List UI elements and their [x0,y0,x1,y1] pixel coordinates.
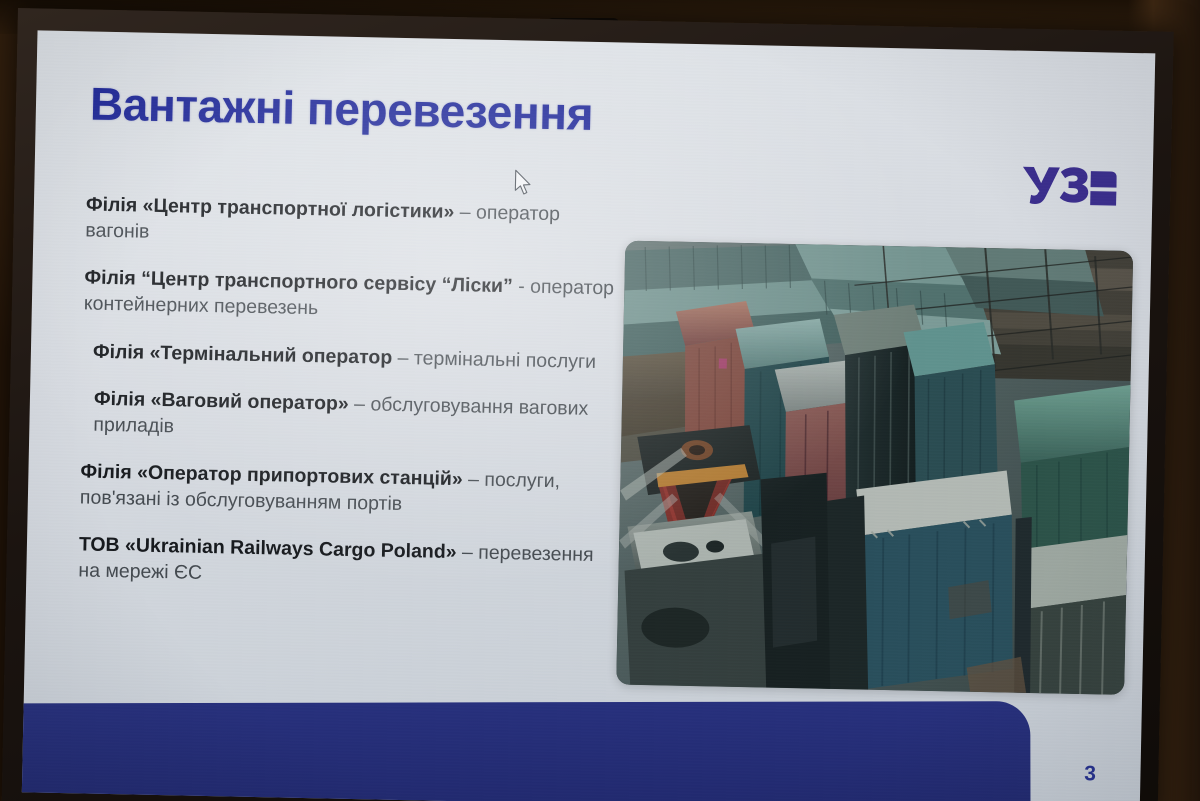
list-item: Філія «Термінальний оператор – терміналь… [83,338,623,375]
list-item: Філія «Ваговий оператор» – обслуговуванн… [81,385,622,448]
list-item: Філія “Центр транспортного сервісу “Ліск… [84,265,625,328]
mouse-cursor-icon [513,169,534,197]
list-item: ТОВ «Ukrainian Railways Cargo Poland» – … [78,531,619,594]
presentation-photo-scene: Вантажні перевезення [0,0,1200,801]
bullet-rest: – термінальні послуги [397,346,596,372]
list-item: Філія «Центр транспортної логістики» – о… [85,191,626,254]
uz-logo-icon [1020,163,1117,215]
presentation-slide: Вантажні перевезення [22,30,1155,801]
list-item: Філія «Оператор припортових станцій» – п… [80,458,621,521]
railway-yard-photo [616,241,1133,695]
bullet-lead: Філія «Оператор припортових станцій» [80,460,468,490]
bullet-lead: Філія «Ваговий оператор» [94,387,355,414]
footer-accent-band [22,701,1031,801]
bullet-list: Філія «Центр транспортної логістики» – о… [78,191,626,615]
bullet-lead: ТОВ «Ukrainian Railways Cargo Poland» [79,533,463,563]
bullet-lead: Філія «Центр транспортної логістики» [86,193,460,223]
bullet-lead: Філія «Термінальний оператор [93,340,398,368]
slide-page-number: 3 [1084,762,1097,786]
page-title: Вантажні перевезення [90,80,594,139]
projection-screen-frame: Вантажні перевезення [2,8,1174,801]
